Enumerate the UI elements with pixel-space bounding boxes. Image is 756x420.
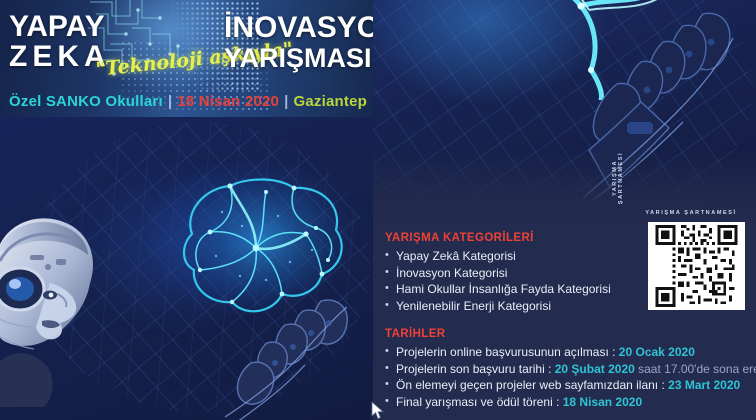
title-yapay: YAPAY — [9, 12, 111, 42]
robot-head-graphic — [0, 197, 129, 407]
qr-code[interactable] — [648, 222, 745, 310]
date-value: 20 Ocak 2020 — [619, 345, 695, 359]
poster-header-banner: YAPAY ZEKA "Teknoloji aşkıyla" İNOVASYON… — [0, 0, 373, 117]
dates-heading: TARİHLER — [385, 328, 445, 340]
qr-label-vertical: YARIŞMA ŞARTNAMESİ — [612, 134, 624, 222]
subtitle-city: Gaziantep — [294, 93, 367, 110]
robot-hand-graphic — [225, 297, 365, 420]
list-item: İnovasyon Kategorisi — [385, 265, 611, 282]
list-item: Projelerin son başvuru tarihi : 20 Şubat… — [385, 361, 756, 378]
date-label: Projelerin online başvurusunun açılması … — [396, 345, 619, 359]
date-value: 20 Şubat 2020 — [555, 362, 635, 376]
categories-list: Yapay Zekâ Kategorisi İnovasyon Kategori… — [385, 248, 611, 314]
poster-image: YAPAY ZEKA "Teknoloji aşkıyla" İNOVASYON… — [0, 0, 756, 420]
date-label: Projelerin son başvuru tarihi : — [396, 362, 555, 376]
title-yarismasi: YARIŞMASI — [224, 43, 373, 74]
qr-label-horizontal: YARIŞMA ŞARTNAMESİ — [636, 210, 746, 216]
list-item: Ön elemeyi geçen projeler web sayfamızda… — [385, 377, 756, 394]
subtitle-school: Özel SANKO Okulları — [9, 93, 163, 110]
list-item: Final yarışması ve ödül töreni : 18 Nisa… — [385, 394, 756, 411]
date-label: Final yarışması ve ödül töreni : — [396, 395, 563, 409]
categories-heading: YARIŞMA KATEGORİLERİ — [385, 232, 534, 244]
list-item: Hami Okullar İnsanlığa Fayda Kategorisi — [385, 281, 611, 298]
date-value: 18 Nisan 2020 — [563, 395, 642, 409]
subtitle-date: 18 Nisan 2020 — [177, 93, 279, 110]
date-tail: saat 17.00'de sona erecektir. — [635, 362, 756, 376]
header-subtitle: Özel SANKO Okulları|18 Nisan 2020|Gazian… — [9, 93, 369, 110]
list-item: Yenilenebilir Enerji Kategorisi — [385, 298, 611, 315]
date-label: Ön elemeyi geçen projeler web sayfamızda… — [396, 378, 668, 392]
subtitle-separator-1: | — [163, 93, 177, 110]
photo-fade-overlay — [373, 150, 756, 218]
dates-list: Projelerin online başvurusunun açılması … — [385, 344, 756, 410]
date-value: 23 Mart 2020 — [668, 378, 740, 392]
list-item: Yapay Zekâ Kategorisi — [385, 248, 611, 265]
title-inovasyon: İNOVASYON — [224, 12, 373, 43]
title-right-group: İNOVASYON YARIŞMASI — [224, 12, 373, 74]
left-panel: YAPAY ZEKA "Teknoloji aşkıyla" İNOVASYON… — [0, 0, 373, 420]
left-hero-photo — [0, 117, 373, 420]
subtitle-separator-2: | — [279, 93, 293, 110]
list-item: Projelerin online başvurusunun açılması … — [385, 344, 756, 361]
mouse-cursor — [371, 401, 384, 420]
qr-code-icon — [651, 225, 742, 307]
right-hero-photo — [373, 0, 756, 218]
